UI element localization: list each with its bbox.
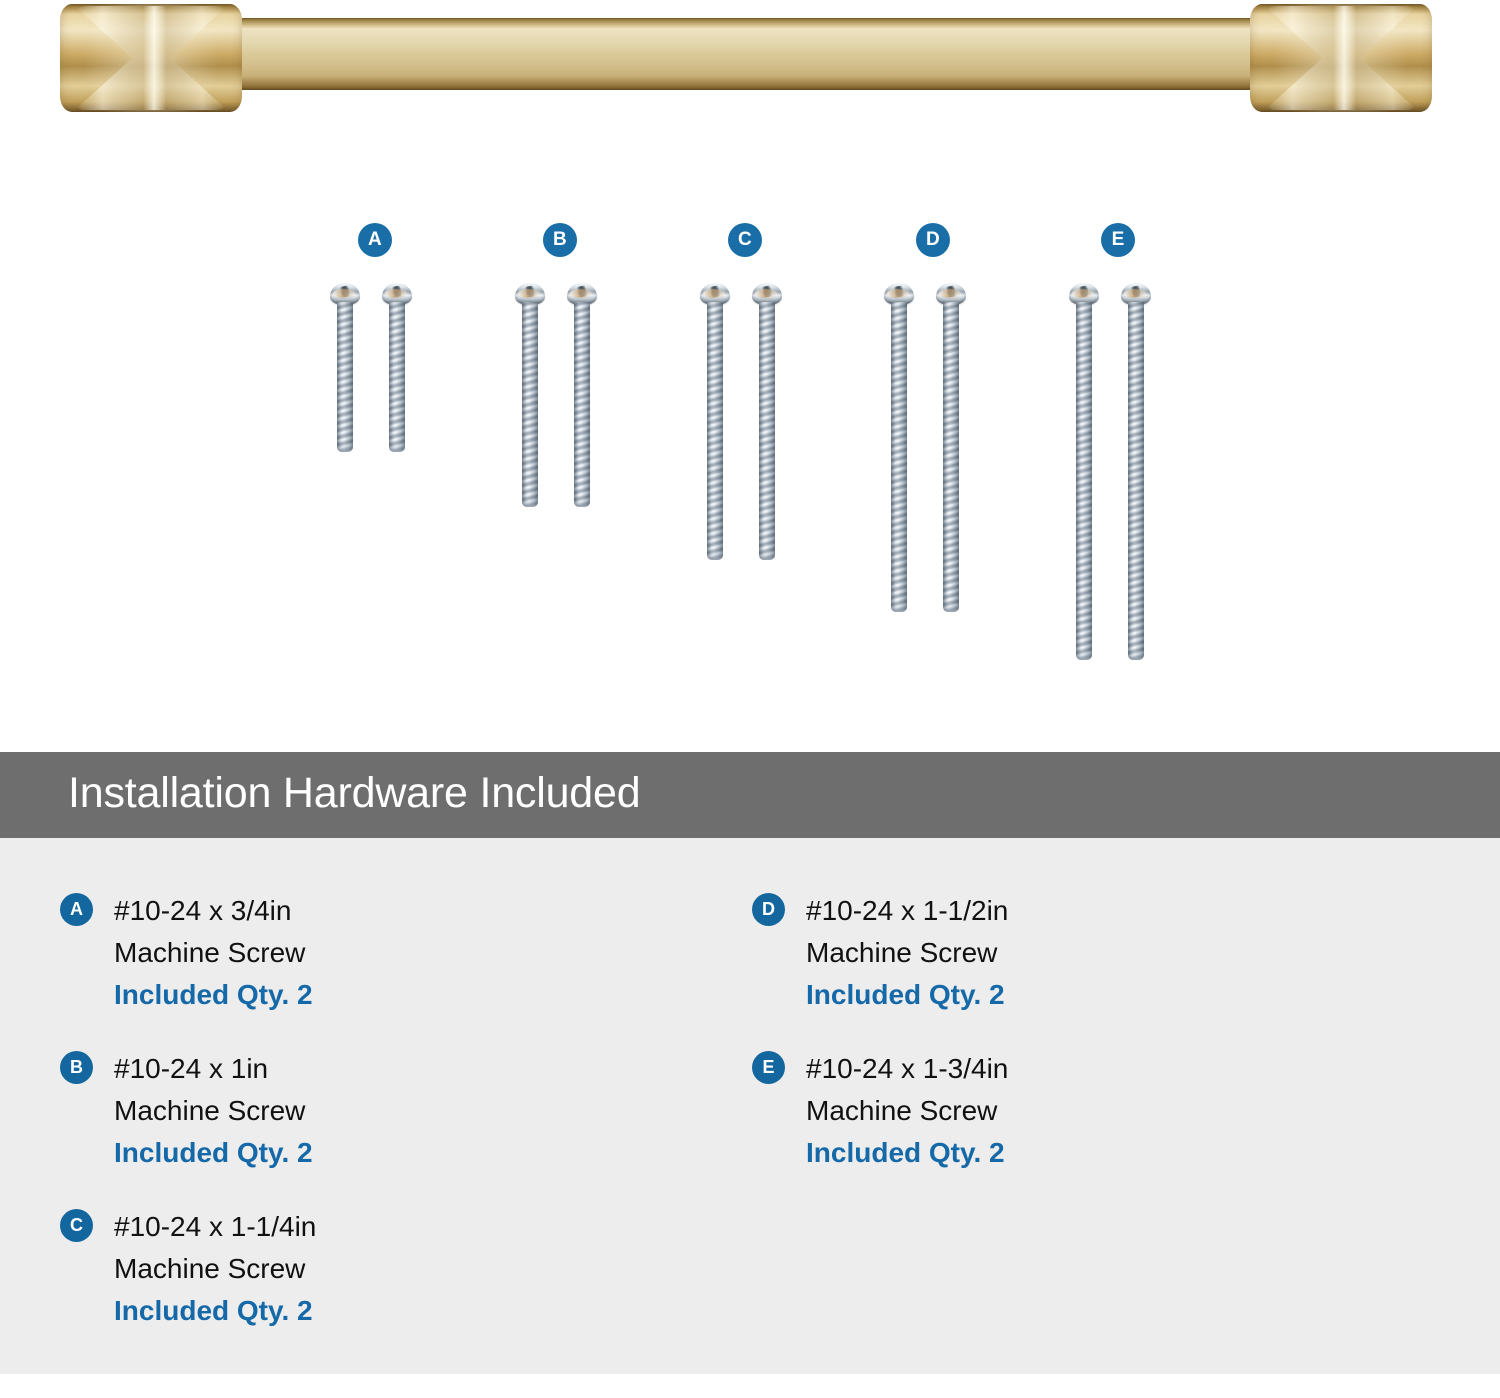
- hardware-qty-label: Included Qty. 2: [114, 1132, 700, 1174]
- screw-shank: [707, 302, 723, 560]
- hardware-list-left-column: A #10-24 x 3/4in Machine Screw Included …: [60, 890, 700, 1364]
- hardware-item-e: E #10-24 x 1-3/4in Machine Screw Include…: [752, 1048, 1392, 1174]
- screw-shank: [337, 302, 353, 452]
- hardware-size-label: #10-24 x 1-3/4in: [806, 1048, 1392, 1090]
- installation-hardware-panel: Installation Hardware Included A #10-24 …: [0, 752, 1500, 1374]
- hardware-item-c: C #10-24 x 1-1/4in Machine Screw Include…: [60, 1206, 700, 1332]
- hardware-item-a: A #10-24 x 3/4in Machine Screw Included …: [60, 890, 700, 1016]
- hardware-badge-d: D: [752, 893, 785, 926]
- screw-badge-d: D: [916, 223, 950, 257]
- hardware-type-label: Machine Screw: [114, 1090, 700, 1132]
- screw-shank: [389, 302, 405, 452]
- hardware-item-text: #10-24 x 1in Machine Screw Included Qty.…: [60, 1048, 700, 1174]
- hardware-type-label: Machine Screw: [806, 932, 1392, 974]
- screw-badge-a: A: [358, 223, 392, 257]
- hardware-item-text: #10-24 x 1-3/4in Machine Screw Included …: [752, 1048, 1392, 1174]
- pull-handle-bar: [210, 18, 1282, 90]
- panel-header-bar: Installation Hardware Included: [0, 752, 1500, 838]
- hardware-list-right-column: D #10-24 x 1-1/2in Machine Screw Include…: [752, 890, 1392, 1206]
- screw-badge-b: B: [543, 223, 577, 257]
- hardware-badge-e: E: [752, 1051, 785, 1084]
- product-hardware-sheet: A B C: [0, 0, 1500, 1398]
- hardware-qty-label: Included Qty. 2: [114, 1290, 700, 1332]
- hardware-badge-c: C: [60, 1209, 93, 1242]
- panel-title: Installation Hardware Included: [68, 769, 640, 818]
- hardware-item-text: #10-24 x 3/4in Machine Screw Included Qt…: [60, 890, 700, 1016]
- hardware-size-label: #10-24 x 1-1/2in: [806, 890, 1392, 932]
- screw-badge-c: C: [728, 223, 762, 257]
- pull-handle-right-post: [1250, 4, 1432, 112]
- hardware-qty-label: Included Qty. 2: [806, 1132, 1392, 1174]
- hardware-size-label: #10-24 x 1in: [114, 1048, 700, 1090]
- hardware-item-text: #10-24 x 1-1/4in Machine Screw Included …: [60, 1206, 700, 1332]
- hardware-item-b: B #10-24 x 1in Machine Screw Included Qt…: [60, 1048, 700, 1174]
- hardware-badge-a: A: [60, 893, 93, 926]
- screw-shank: [1076, 302, 1092, 660]
- hardware-type-label: Machine Screw: [114, 932, 700, 974]
- hardware-type-label: Machine Screw: [114, 1248, 700, 1290]
- pull-handle-left-post: [60, 4, 242, 112]
- hardware-item-text: #10-24 x 1-1/2in Machine Screw Included …: [752, 890, 1392, 1016]
- screw-shank: [759, 302, 775, 560]
- screw-badge-e: E: [1101, 223, 1135, 257]
- screw-shank: [574, 302, 590, 507]
- product-image-area: A B C: [0, 0, 1500, 750]
- cabinet-pull-handle: [60, 4, 1432, 116]
- screw-shank: [522, 302, 538, 507]
- hardware-size-label: #10-24 x 3/4in: [114, 890, 700, 932]
- hardware-type-label: Machine Screw: [806, 1090, 1392, 1132]
- hardware-badge-b: B: [60, 1051, 93, 1084]
- screw-shank: [891, 302, 907, 612]
- screw-shank: [1128, 302, 1144, 660]
- hardware-qty-label: Included Qty. 2: [114, 974, 700, 1016]
- screw-shank: [943, 302, 959, 612]
- hardware-size-label: #10-24 x 1-1/4in: [114, 1206, 700, 1248]
- hardware-qty-label: Included Qty. 2: [806, 974, 1392, 1016]
- hardware-item-d: D #10-24 x 1-1/2in Machine Screw Include…: [752, 890, 1392, 1016]
